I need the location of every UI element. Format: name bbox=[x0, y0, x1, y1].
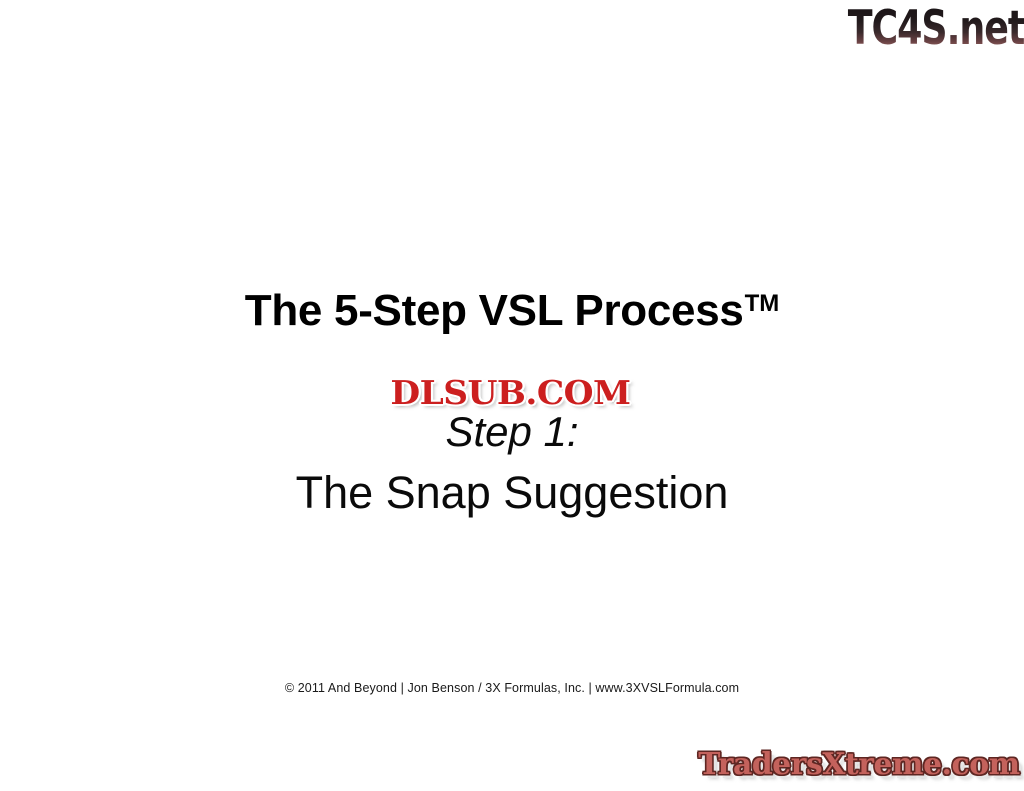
dlsub-watermark: DLSUB.COM bbox=[362, 372, 658, 412]
subtitle-step-name: The Snap Suggestion bbox=[0, 464, 1024, 522]
subtitle-block: Step 1: The Snap Suggestion bbox=[0, 406, 1024, 522]
tradersxtreme-watermark: TradersXtreme.com bbox=[700, 744, 1020, 786]
trademark-symbol: TM bbox=[745, 290, 780, 317]
copyright-notice: © 2011 And Beyond | Jon Benson / 3X Form… bbox=[0, 681, 1024, 695]
tc4s-watermark-text: TC4S.net bbox=[847, 5, 1024, 52]
page-title: The 5-Step VSL ProcessTM bbox=[0, 276, 1024, 339]
dlsub-watermark-text: DLSUB.COM bbox=[390, 376, 630, 409]
title-block: The 5-Step VSL ProcessTM bbox=[0, 276, 1024, 339]
tradersxtreme-watermark-text: TradersXtreme.com bbox=[699, 750, 1020, 780]
tc4s-watermark: TC4S.net bbox=[828, 2, 1024, 54]
page-title-text: The 5-Step VSL Process bbox=[245, 286, 744, 335]
presentation-slide: TC4S.net The 5-Step VSL ProcessTM Step 1… bbox=[0, 0, 1024, 791]
subtitle-step-label: Step 1: bbox=[0, 406, 1024, 458]
